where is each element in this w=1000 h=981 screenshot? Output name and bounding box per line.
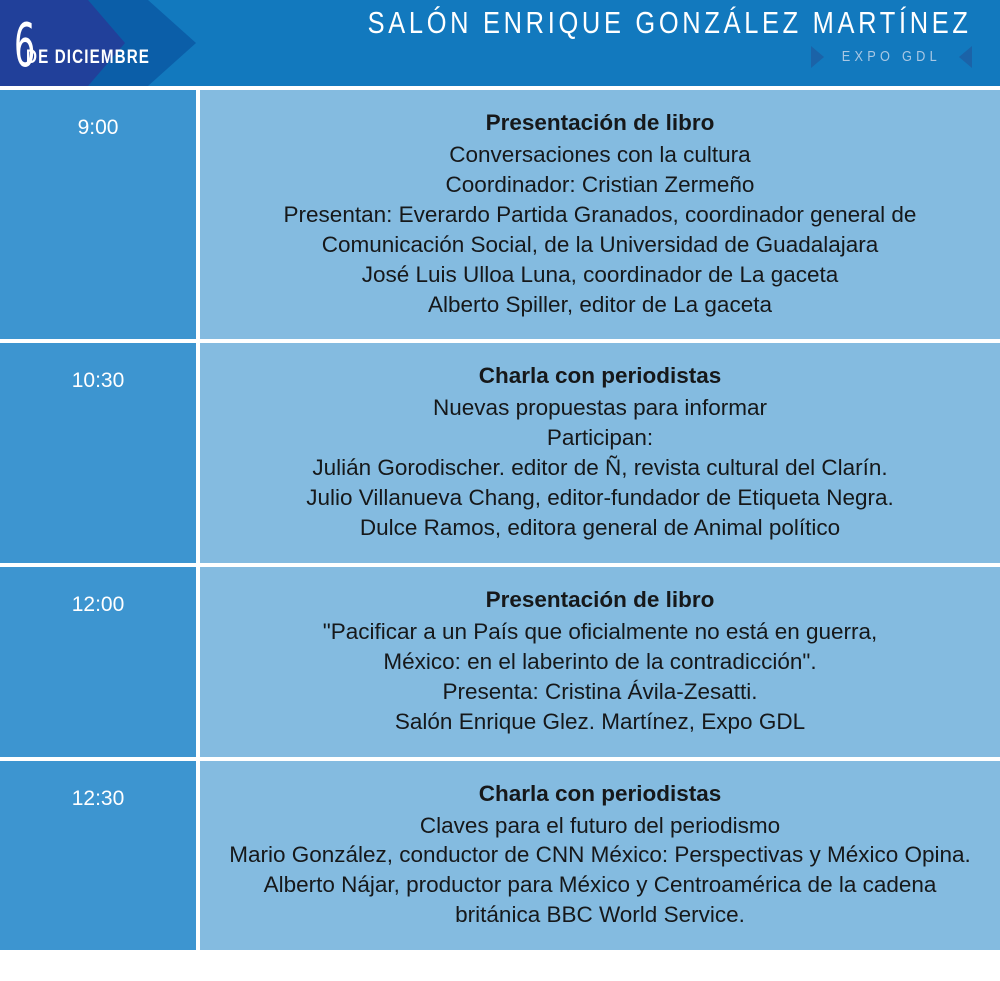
schedule-row: 10:30Charla con periodistasNuevas propue… bbox=[0, 343, 1000, 563]
date-month-label: DE DICIEMBRE bbox=[26, 47, 150, 69]
schedule-poster: 6 DE DICIEMBRE SALÓN ENRIQUE GONZÁLEZ MA… bbox=[0, 0, 1000, 981]
event-time: 12:30 bbox=[0, 761, 196, 951]
event-time: 10:30 bbox=[0, 343, 196, 563]
event-time: 12:00 bbox=[0, 567, 196, 757]
event-detail-line: Presenta: Cristina Ávila-Zesatti. bbox=[216, 677, 984, 707]
schedule-row: 12:00Presentación de libro"Pacificar a u… bbox=[0, 567, 1000, 757]
venue-label: EXPO GDL bbox=[842, 48, 941, 65]
event-detail-line: Mario González, conductor de CNN México:… bbox=[216, 840, 984, 870]
event-detail-line: británica BBC World Service. bbox=[216, 900, 984, 930]
event-detail-line: Presentan: Everardo Partida Granados, co… bbox=[216, 200, 984, 230]
event-detail-line: Salón Enrique Glez. Martínez, Expo GDL bbox=[216, 707, 984, 737]
event-content: Charla con periodistasNuevas propuestas … bbox=[200, 343, 1000, 563]
event-title: Charla con periodistas bbox=[216, 361, 984, 391]
triangle-right-icon bbox=[811, 46, 824, 68]
event-detail-line: Nuevas propuestas para informar bbox=[216, 393, 984, 423]
event-content: Presentación de libroConversaciones con … bbox=[200, 90, 1000, 339]
event-detail-line: Conversaciones con la cultura bbox=[216, 140, 984, 170]
event-title: Presentación de libro bbox=[216, 585, 984, 615]
date-block: 6 DE DICIEMBRE bbox=[14, 0, 181, 86]
schedule-row: 9:00Presentación de libroConversaciones … bbox=[0, 90, 1000, 339]
event-detail-line: Julián Gorodischer. editor de Ñ, revista… bbox=[216, 453, 984, 483]
event-detail-line: Alberto Nájar, productor para México y C… bbox=[216, 870, 984, 900]
event-time: 9:00 bbox=[0, 90, 196, 339]
event-title: Presentación de libro bbox=[216, 108, 984, 138]
triangle-left-icon bbox=[959, 46, 972, 68]
event-detail-line: Participan: bbox=[216, 423, 984, 453]
event-detail-line: Alberto Spiller, editor de La gaceta bbox=[216, 290, 984, 320]
schedule-grid: 9:00Presentación de libroConversaciones … bbox=[0, 86, 1000, 950]
event-detail-line: Coordinador: Cristian Zermeño bbox=[216, 170, 984, 200]
event-detail-line: "Pacificar a un País que oficialmente no… bbox=[216, 617, 984, 647]
venue-line: EXPO GDL bbox=[235, 46, 972, 68]
event-detail-line: Claves para el futuro del periodismo bbox=[216, 811, 984, 841]
event-detail-line: Dulce Ramos, editora general de Animal p… bbox=[216, 513, 984, 543]
poster-header: 6 DE DICIEMBRE SALÓN ENRIQUE GONZÁLEZ MA… bbox=[0, 0, 1000, 86]
schedule-row: 12:30Charla con periodistasClaves para e… bbox=[0, 761, 1000, 951]
title-block: SALÓN ENRIQUE GONZÁLEZ MARTÍNEZ EXPO GDL bbox=[235, 7, 972, 68]
event-content: Charla con periodistasClaves para el fut… bbox=[200, 761, 1000, 951]
event-detail-line: José Luis Ulloa Luna, coordinador de La … bbox=[216, 260, 984, 290]
event-title: Charla con periodistas bbox=[216, 779, 984, 809]
hall-title: SALÓN ENRIQUE GONZÁLEZ MARTÍNEZ bbox=[368, 7, 972, 40]
event-detail-line: Comunicación Social, de la Universidad d… bbox=[216, 230, 984, 260]
event-content: Presentación de libro"Pacificar a un Paí… bbox=[200, 567, 1000, 757]
event-detail-line: Julio Villanueva Chang, editor-fundador … bbox=[216, 483, 984, 513]
event-detail-line: México: en el laberinto de la contradicc… bbox=[216, 647, 984, 677]
